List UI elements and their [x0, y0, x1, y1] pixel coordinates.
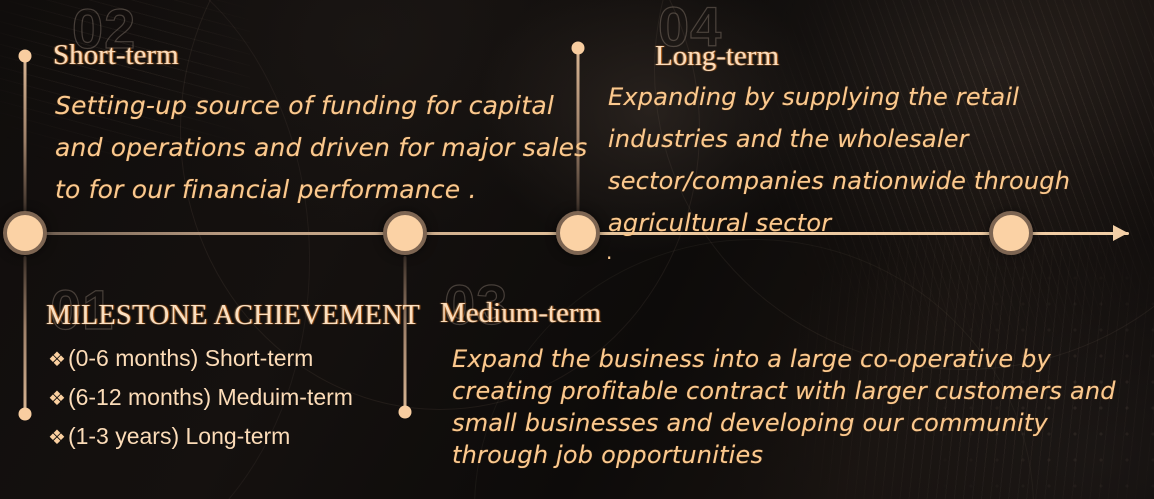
body-line: to for our financial performance .	[55, 169, 587, 211]
body-line: creating profitable contract with larger…	[452, 375, 1116, 407]
diamond-bullet-icon: ❖	[48, 425, 66, 450]
milestone-body-04: Expanding by supplying the retail indust…	[608, 76, 1070, 244]
body-line: and operations and driven for major sale…	[55, 127, 587, 169]
bullet-label: (6-12 months) Meduim-term	[68, 384, 353, 411]
bullet-item: ❖ (6-12 months) Meduim-term	[48, 384, 353, 411]
timeline-infographic: 02 Short-term Setting-up source of fundi…	[0, 0, 1154, 499]
body-line: sector/companies nationwide through	[608, 160, 1070, 202]
arrow-icon	[1113, 225, 1128, 241]
body-line: Expanding by supplying the retail	[608, 76, 1070, 118]
milestone-bullet-list-01: ❖ (0-6 months) Short-term ❖ (6-12 months…	[48, 345, 353, 462]
body-line: small businesses and developing our comm…	[452, 407, 1116, 439]
milestone-body-03: Expand the business into a large co-oper…	[452, 343, 1116, 471]
milestone-title-01: MILESTONE ACHIEVEMENT	[46, 300, 420, 332]
milestone-title-02: Short-term	[53, 39, 179, 72]
timeline-node-3[interactable]	[556, 211, 600, 255]
timeline-node-1[interactable]	[3, 211, 47, 255]
bullet-item: ❖ (0-6 months) Short-term	[48, 345, 353, 372]
connector-dot-03	[399, 406, 412, 419]
body-line: through job opportunities	[452, 439, 1116, 471]
body-line: industries and the wholesaler	[608, 118, 1070, 160]
connector-dot-02	[19, 50, 32, 63]
connector-stem-02	[24, 55, 27, 212]
bullet-label: (1-3 years) Long-term	[68, 423, 290, 450]
bullet-label: (0-6 months) Short-term	[68, 345, 313, 372]
body-line: agricultural sector	[608, 202, 1070, 244]
body-line: Setting-up source of funding for capital	[55, 85, 587, 127]
connector-stem-03	[404, 256, 407, 412]
milestone-trailing-period-04: .	[606, 240, 612, 264]
milestone-body-02: Setting-up source of funding for capital…	[55, 85, 587, 211]
diamond-bullet-icon: ❖	[48, 386, 66, 411]
bullet-item: ❖ (1-3 years) Long-term	[48, 423, 353, 450]
milestone-title-04: Long-term	[655, 40, 779, 73]
diamond-bullet-icon: ❖	[48, 347, 66, 372]
body-line: Expand the business into a large co-oper…	[452, 343, 1116, 375]
connector-dot-01	[19, 408, 32, 421]
timeline-node-2[interactable]	[383, 211, 427, 255]
connector-dot-04	[572, 42, 585, 55]
connector-stem-01	[24, 256, 27, 414]
milestone-title-03: Medium-term	[440, 297, 601, 330]
